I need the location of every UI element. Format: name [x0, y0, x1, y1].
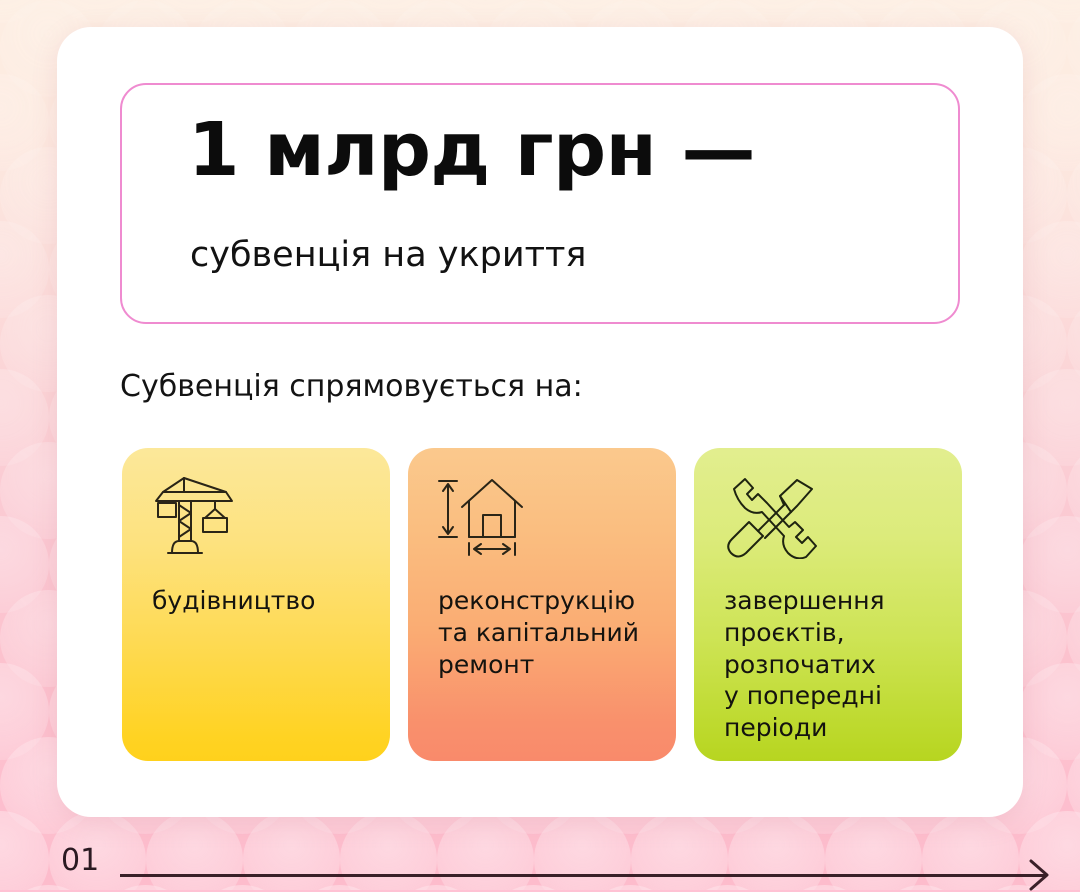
content-panel: 1 млрд грн — субвенція на укриття Субвен… [57, 27, 1023, 817]
headline-box: 1 млрд грн — субвенція на укриття [120, 83, 960, 324]
card-construction: будівництво [122, 448, 390, 761]
card-label: реконструкцію та капітальний ремонт [438, 585, 664, 680]
card-label: завершення проєктів, розпочатих у попере… [724, 585, 950, 744]
card-reconstruction: реконструкцію та капітальний ремонт [408, 448, 676, 761]
card-completion: завершення проєктів, розпочатих у попере… [694, 448, 962, 761]
footer: 01 [0, 846, 1080, 890]
footer-rule [120, 874, 1045, 877]
page-number: 01 [61, 846, 99, 876]
arrow-right-icon [1026, 858, 1052, 892]
card-label: будівництво [152, 585, 378, 617]
card-list: будівництво [122, 448, 962, 761]
wrench-screwdriver-icon [722, 475, 818, 559]
house-dimensions-icon [436, 475, 532, 559]
section-heading: Субвенція спрямовується на: [120, 369, 583, 404]
page-title: 1 млрд грн — [188, 113, 755, 187]
construction-crane-icon [150, 475, 246, 559]
page-subtitle: субвенція на укриття [190, 236, 586, 275]
